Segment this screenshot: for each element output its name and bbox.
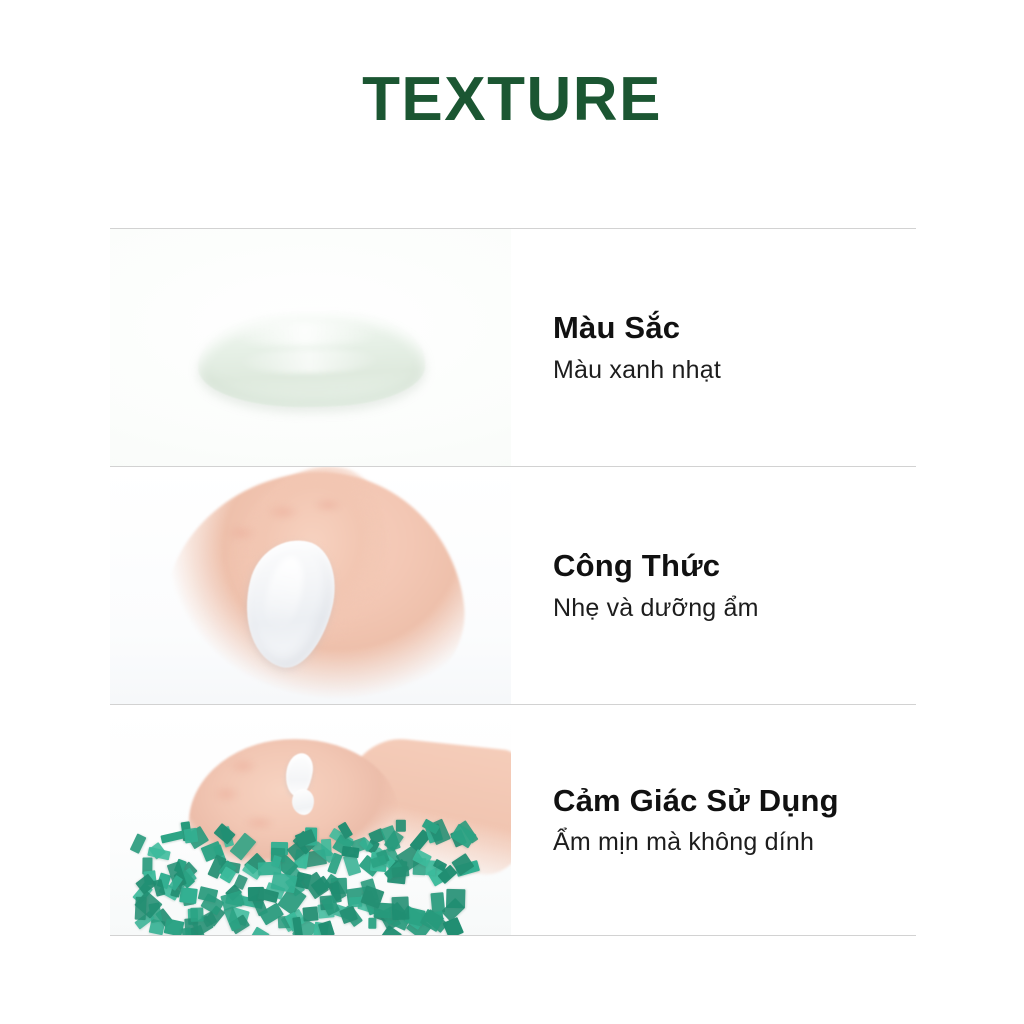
confetti-flake <box>183 828 198 843</box>
row-subtext: Nhẹ và dưỡng ẩm <box>553 593 916 623</box>
confetti-flake <box>129 834 145 854</box>
hand-backdrop <box>110 467 511 704</box>
table-row: Cảm Giác Sử Dụng Ẩm mịn mà không dính <box>110 705 916 935</box>
row-text-block: Cảm Giác Sử Dụng Ẩm mịn mà không dính <box>511 705 916 935</box>
knuckle-shade <box>220 521 262 545</box>
fist-on-green-confetti-photo <box>110 705 511 935</box>
page-title: TEXTURE <box>362 69 662 131</box>
cream-swatch-photo <box>110 229 511 466</box>
confetti-flake <box>392 897 410 921</box>
confetti-flake <box>391 866 409 878</box>
confetti-flake <box>197 886 217 903</box>
texture-infographic-page: TEXTURE Màu Sắc Màu xanh nhạt <box>0 0 1024 1024</box>
row-text-block: Màu Sắc Màu xanh nhạt <box>511 229 916 466</box>
table-row: Công Thức Nhẹ và dưỡng ẩm <box>110 467 916 704</box>
knuckle-shade <box>236 811 282 835</box>
confetti-flake <box>190 907 204 921</box>
cream-dollop-secondary-shape <box>292 789 314 815</box>
knuckle-shade <box>206 781 246 807</box>
confetti-flake <box>443 917 464 935</box>
knuckle-shade <box>260 499 306 525</box>
row-heading: Màu Sắc <box>553 310 916 347</box>
texture-rows: Màu Sắc Màu xanh nhạt Công Thức Nhẹ và d… <box>110 228 916 936</box>
row-subtext: Màu xanh nhạt <box>553 355 916 385</box>
confetti-flake <box>249 926 270 935</box>
confetti-flake <box>179 887 198 904</box>
swatch-backdrop <box>110 229 511 466</box>
table-row: Màu Sắc Màu xanh nhạt <box>110 229 916 466</box>
confetti-flake <box>161 830 185 843</box>
confetti-flake <box>181 927 192 935</box>
confetti-flake <box>397 819 407 831</box>
divider-bottom <box>110 935 916 936</box>
cream-blob-highlight <box>230 321 380 347</box>
row-heading: Công Thức <box>553 548 916 585</box>
row-text-block: Công Thức Nhẹ và dưỡng ẩm <box>511 467 916 704</box>
confetti-flake <box>446 888 465 908</box>
confetti-flake <box>220 890 245 911</box>
knuckle-shade <box>306 493 350 517</box>
page-header: TEXTURE <box>0 0 1024 200</box>
row-heading: Cảm Giác Sử Dụng <box>553 783 916 820</box>
confetti-flake <box>303 907 319 922</box>
hand-cream-smear-photo <box>110 467 511 704</box>
confetti-flake <box>368 917 377 928</box>
confetti-flake <box>318 920 335 935</box>
confetti-flake <box>342 845 360 857</box>
knuckle-shade <box>222 753 264 779</box>
row-subtext: Ẩm mịn mà không dính <box>553 827 916 857</box>
confetti-flake <box>134 896 146 920</box>
fist-backdrop <box>110 705 511 935</box>
